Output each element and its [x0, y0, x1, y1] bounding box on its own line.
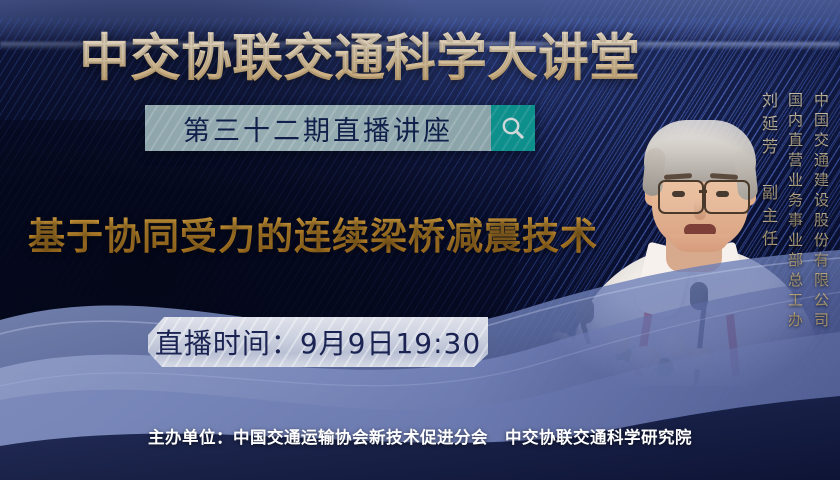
page-title: 中交协联交通科学大讲堂	[0, 18, 840, 90]
speaker-glasses-bridge	[699, 190, 707, 193]
broadcast-time-text: 直播时间：9月9日19:30	[155, 322, 481, 362]
speaker-glasses-right	[704, 180, 750, 214]
speaker-department: 国内直营业务事业部总工办	[780, 92, 806, 332]
series-label: 第三十二期直播讲座	[183, 109, 453, 148]
live-lecture-poster: 中交协联交通科学大讲堂 第三十二期直播讲座 基于协同受力的连续梁桥减震技术 直播…	[0, 0, 840, 480]
organizers-footer: 主办单位：中国交通运输协会新技术促进分会 中交协联交通科学研究院	[0, 424, 840, 448]
speaker-glasses-left	[658, 180, 704, 214]
lecture-title: 基于协同受力的连续梁桥减震技术	[28, 206, 598, 260]
series-bar[interactable]: 第三十二期直播讲座	[145, 105, 535, 151]
speaker-name-role: 刘延芳 副主任	[750, 92, 780, 253]
search-icon[interactable]	[491, 105, 535, 151]
speaker-organization: 中国交通建设股份有限公司	[806, 92, 832, 332]
broadcast-time-plate: 直播时间：9月9日19:30	[148, 317, 488, 367]
series-bar-fill: 第三十二期直播讲座	[145, 105, 491, 151]
speaker-credits: 刘延芳 副主任 国内直营业务事业部总工办 中国交通建设股份有限公司	[750, 92, 832, 332]
